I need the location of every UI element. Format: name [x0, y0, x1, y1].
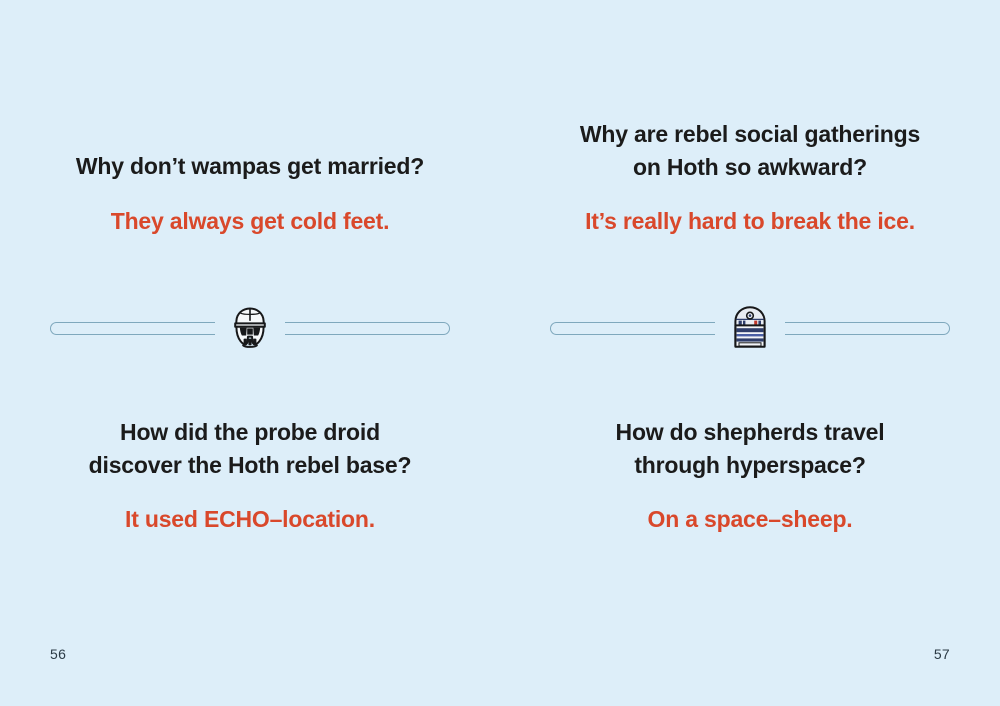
joke-answer: It’s really hard to break the ice. — [550, 205, 950, 238]
joke-block: Why don’t wampas get married? They alway… — [50, 150, 450, 237]
joke-question-line: Why don’t wampas get married? — [50, 150, 450, 183]
joke-question-line: How did the probe droid — [50, 416, 450, 449]
page-number: 56 — [50, 646, 66, 662]
joke-answer: It used ECHO–location. — [50, 503, 450, 536]
joke-question-line: How do shepherds travel — [550, 416, 950, 449]
r2d2-droid-icon — [727, 305, 773, 351]
joke-question: How did the probe droid discover the Hot… — [50, 416, 450, 481]
page-right: Why are rebel social gatherings on Hoth … — [500, 0, 1000, 706]
page-left: Why don’t wampas get married? They alway… — [0, 0, 500, 706]
joke-question: Why don’t wampas get married? — [50, 150, 450, 183]
joke-question: How do shepherds travel through hyperspa… — [550, 416, 950, 481]
joke-block: How do shepherds travel through hyperspa… — [550, 416, 950, 536]
book-spread: Why don’t wampas get married? They alway… — [0, 0, 1000, 706]
joke-answer-line: They always get cold feet. — [50, 205, 450, 238]
joke-answer: They always get cold feet. — [50, 205, 450, 238]
section-divider — [50, 305, 450, 351]
section-divider — [550, 305, 950, 351]
divider-rule-right — [785, 322, 950, 335]
divider-rule-left — [550, 322, 715, 335]
joke-block: How did the probe droid discover the Hot… — [50, 416, 450, 536]
joke-answer-line: It’s really hard to break the ice. — [550, 205, 950, 238]
joke-block: Why are rebel social gatherings on Hoth … — [550, 118, 950, 238]
joke-answer-line: On a space–sheep. — [550, 503, 950, 536]
joke-answer: On a space–sheep. — [550, 503, 950, 536]
joke-question-line: on Hoth so awkward? — [550, 151, 950, 184]
stormtrooper-helmet-icon — [227, 305, 273, 351]
divider-rule-left — [50, 322, 215, 335]
joke-question-line: Why are rebel social gatherings — [550, 118, 950, 151]
joke-question: Why are rebel social gatherings on Hoth … — [550, 118, 950, 183]
joke-question-line: through hyperspace? — [550, 449, 950, 482]
divider-rule-right — [285, 322, 450, 335]
joke-answer-line: It used ECHO–location. — [50, 503, 450, 536]
joke-question-line: discover the Hoth rebel base? — [50, 449, 450, 482]
page-number: 57 — [934, 646, 950, 662]
